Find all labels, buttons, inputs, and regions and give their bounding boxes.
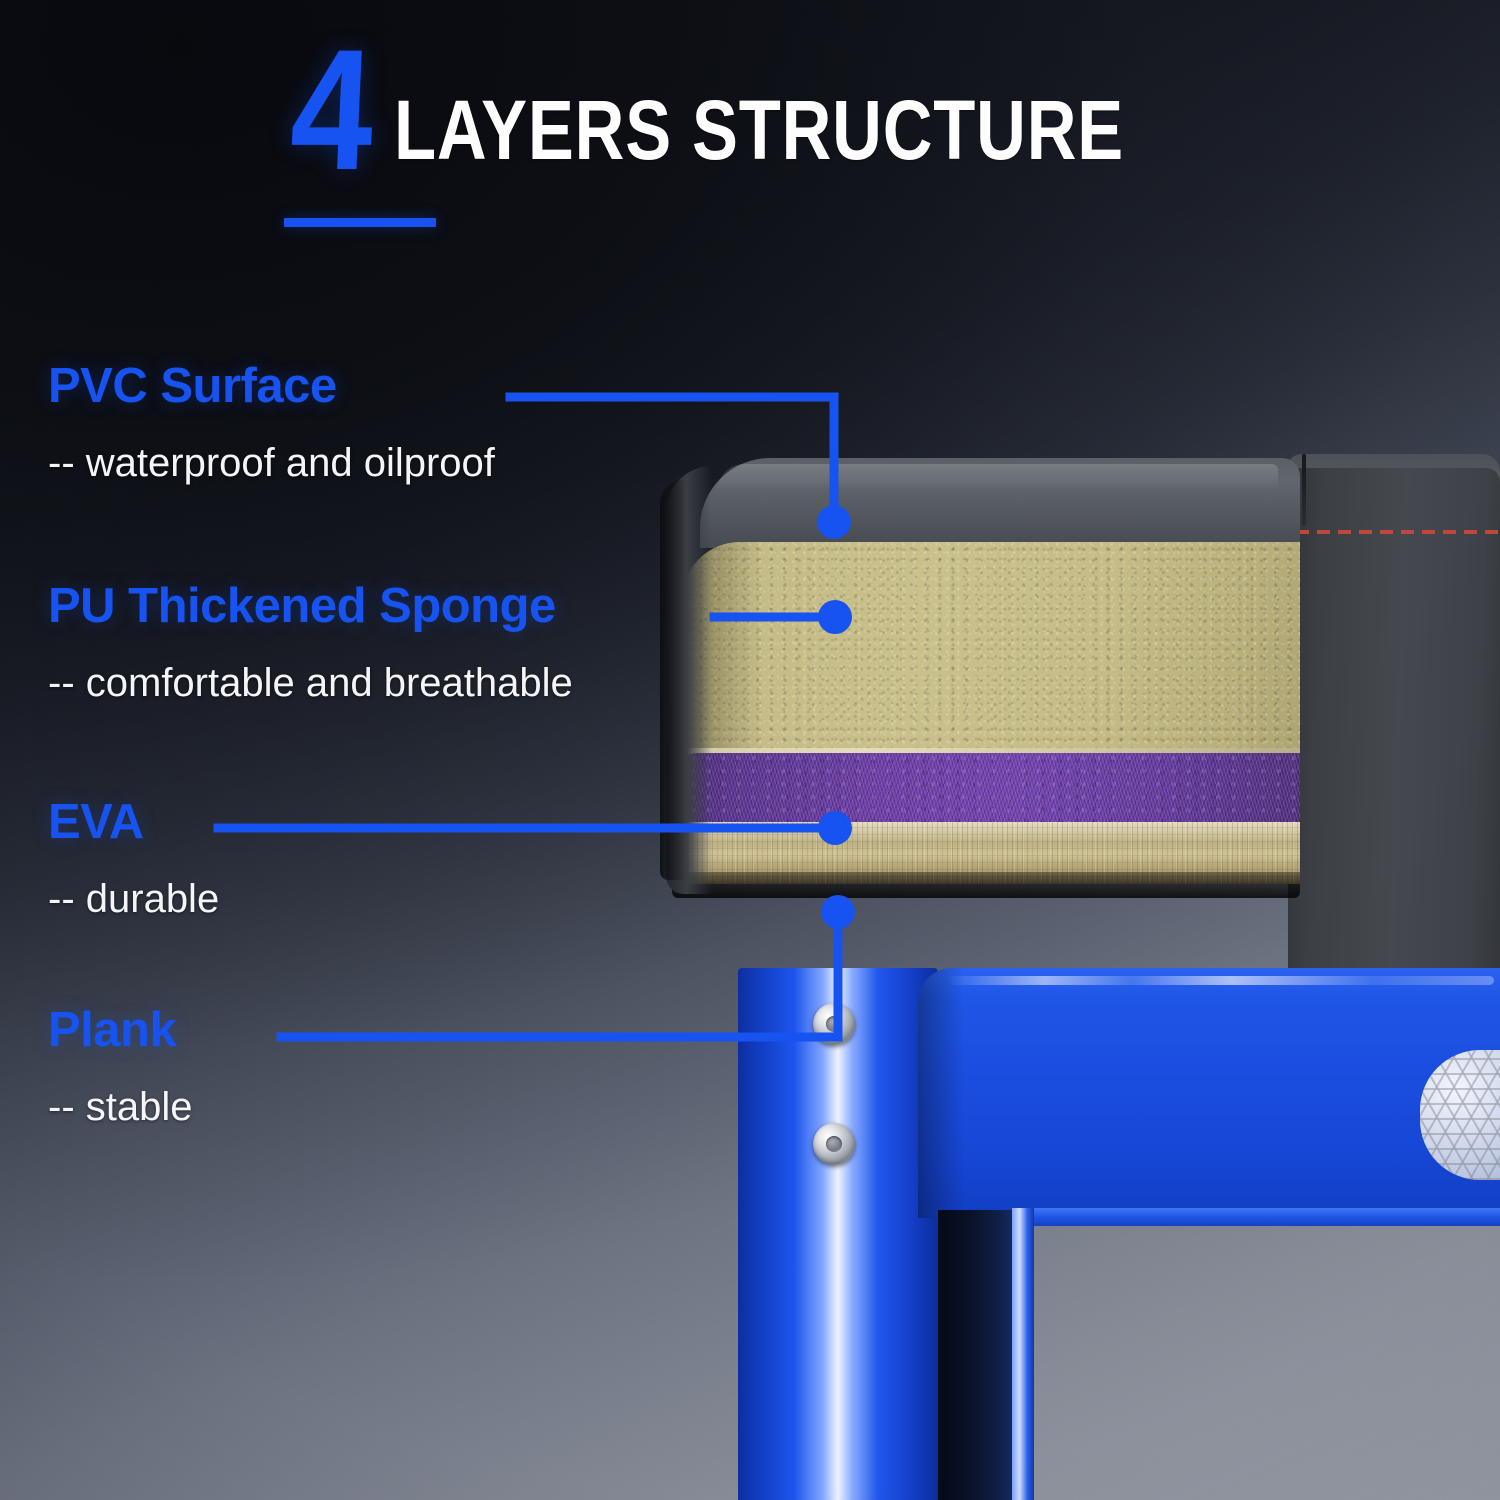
layer-pu-sponge — [682, 542, 1300, 757]
callout-title-pu: PU Thickened Sponge — [48, 582, 573, 631]
plank-underside-shadow — [672, 872, 1300, 898]
callout-title-eva: EVA — [48, 798, 219, 847]
callout-benefit-plank: -- stable — [48, 1087, 193, 1127]
cutaway-outer-edge — [660, 480, 684, 880]
sponge-texture — [682, 542, 1300, 757]
layer-eva — [674, 753, 1300, 823]
upholstery-side-panel — [1288, 468, 1500, 988]
reflector-pattern — [1420, 1050, 1500, 1180]
screw-icon — [813, 1123, 855, 1165]
callout-title-pvc: PVC Surface — [48, 362, 495, 411]
red-stitching — [1296, 530, 1500, 534]
callout-benefit-pvc: -- waterproof and oilproof — [48, 443, 495, 483]
frame-rail — [918, 968, 1500, 1218]
eva-texture — [674, 753, 1300, 823]
layer-count-number: 4 — [288, 40, 371, 181]
infographic-canvas: 4 LAYERS STRUCTURE — [0, 0, 1500, 1500]
screw-icon — [813, 1003, 855, 1045]
pvc-highlight — [718, 464, 1278, 490]
product-cutaway-photo — [660, 420, 1500, 1500]
page-title: LAYERS STRUCTURE — [394, 91, 1124, 171]
callout-title-plank: Plank — [48, 1006, 193, 1055]
frame-inner-edge — [1012, 1208, 1034, 1500]
callout-eva: EVA -- durable — [48, 798, 219, 919]
frame-corner-shadow — [918, 968, 964, 1218]
callout-pu-sponge: PU Thickened Sponge -- comfortable and b… — [48, 582, 573, 703]
upholstery-seam — [1302, 454, 1306, 526]
title-underline-rule — [284, 218, 436, 227]
honeycomb-reflector-icon — [1420, 1050, 1500, 1180]
frame-bottom-rail — [1034, 1208, 1500, 1226]
frame-inner-post — [938, 1210, 1020, 1500]
callout-benefit-eva: -- durable — [48, 879, 219, 919]
callout-pvc-surface: PVC Surface -- waterproof and oilproof — [48, 362, 495, 483]
frame-leg — [738, 968, 938, 1500]
callout-benefit-pu: -- comfortable and breathable — [48, 663, 573, 703]
header: 4 LAYERS STRUCTURE — [288, 34, 1348, 234]
callout-plank: Plank -- stable — [48, 1006, 193, 1127]
frame-rail-highlight — [946, 976, 1494, 985]
